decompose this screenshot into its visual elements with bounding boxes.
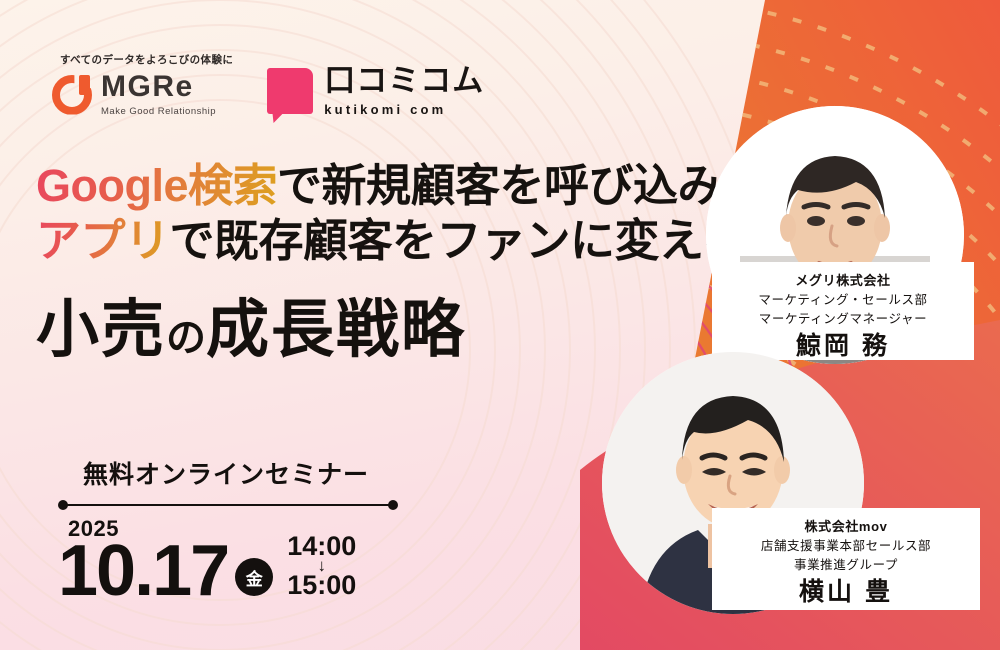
headline-retail: 小売 (36, 295, 166, 365)
headline-no: の (166, 316, 206, 360)
kutikomi-subline: kutikomi com (324, 102, 484, 117)
kutikomi-logo: 口コミコム kutikomi com (267, 65, 484, 117)
speaker-2-name: 横山 豊 (724, 579, 968, 607)
headline-rest-1: で新規顧客を呼び込み、 (277, 160, 767, 211)
headline-accent-google: Google検索 (36, 160, 277, 211)
speaker-2-dept2: 事業推進グループ (724, 556, 968, 575)
headline-accent-app: アプリ (36, 215, 170, 266)
speaker-1-dept1: マーケティング・セールス部 (724, 291, 962, 310)
headline-rest-2: で既存顧客をファンに変える (170, 215, 747, 266)
day-of-week-badge: 金 (235, 558, 273, 596)
rule-dot-right (388, 500, 398, 510)
mgre-wordmark: MGRe (101, 72, 216, 102)
speaker-1-dept2: マーケティングマネージャー (724, 310, 962, 329)
divider-rule (58, 500, 398, 510)
seminar-label: 無料オンラインセミナー (66, 455, 386, 491)
headline-line-1: Google検索で新規顧客を呼び込み、 (36, 162, 716, 211)
speaker-card-2: 株式会社mov 店舗支援事業本部セールス部 事業推進グループ 横山 豊 (712, 508, 980, 610)
speaker-1-org: メグリ株式会社 (724, 271, 962, 291)
event-info-block: 無料オンラインセミナー 2025 10.17 金 14:00 ↓ 15:00 (58, 455, 458, 601)
speaker-card-1: メグリ株式会社 マーケティング・セールス部 マーケティングマネージャー 鯨岡 務 (712, 262, 974, 360)
kutikomi-wordmark: 口コミコム (324, 65, 484, 96)
speaker-2-dept1: 店舗支援事業本部セールス部 (724, 537, 968, 556)
headline-line-2: アプリで既存顧客をファンに変える (36, 217, 716, 266)
headline-growth-strategy: 成長戦略 (206, 295, 466, 365)
event-month-day: 10.17 (58, 542, 228, 601)
mgre-tagline: すべてのデータをよろこびの体験に (52, 52, 233, 67)
date-line: 2025 10.17 金 14:00 ↓ 15:00 (58, 516, 458, 601)
event-end-time: 15:00 (287, 571, 356, 599)
rule-line (63, 504, 393, 506)
mgre-logo: すべてのデータをよろこびの体験に MGRe Make Good Relation… (52, 52, 233, 117)
mgre-ring-icon (52, 75, 92, 115)
speech-bubble-icon (267, 68, 313, 114)
webinar-banner: すべてのデータをよろこびの体験に MGRe Make Good Relation… (0, 0, 1000, 650)
event-time-range: 14:00 ↓ 15:00 (287, 532, 356, 599)
logo-row: すべてのデータをよろこびの体験に MGRe Make Good Relation… (52, 52, 484, 117)
speaker-2-org: 株式会社mov (724, 517, 968, 537)
mgre-subline: Make Good Relationship (101, 106, 216, 117)
headline-block: Google検索で新規顧客を呼び込み、 アプリで既存顧客をファンに変える 小売の… (36, 162, 716, 370)
